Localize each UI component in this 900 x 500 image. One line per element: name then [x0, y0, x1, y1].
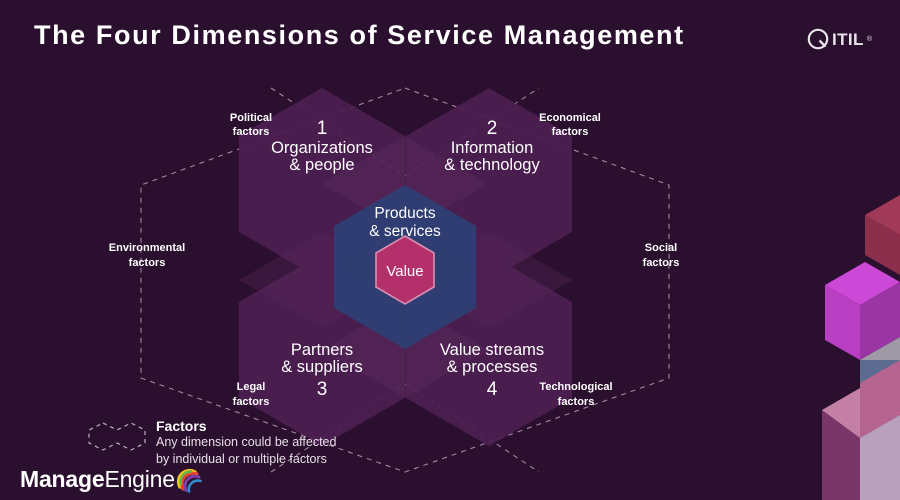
value-label: Value	[386, 263, 423, 280]
dimension-2-line1: Information	[451, 139, 534, 157]
dimension-2-number: 2	[487, 118, 498, 139]
legend-title: Factors	[156, 418, 336, 434]
dimension-3-line2: & suppliers	[281, 358, 363, 376]
legend: Factors Any dimension could be affected …	[88, 416, 336, 467]
factor-social-line2: factors	[643, 257, 680, 269]
manageengine-swirl-icon	[176, 467, 202, 493]
cube-crimson	[865, 195, 900, 275]
dimension-4-number: 4	[487, 379, 498, 400]
factor-technological-line1: Technological	[539, 381, 612, 393]
factor-technological-line2: factors	[558, 396, 595, 408]
factor-economical-line1: Economical	[539, 112, 601, 124]
factor-economical-line2: factors	[552, 126, 589, 138]
factor-political-line2: factors	[233, 126, 270, 138]
manageengine-brand-bold: Manage	[20, 466, 104, 493]
decorative-isometric-cubes	[810, 0, 900, 500]
dimension-2-line2: & technology	[444, 156, 540, 174]
dimension-4-line2: & processes	[447, 358, 538, 376]
legend-desc-line1: Any dimension could be affected	[156, 435, 336, 451]
core-label-line2: & services	[369, 223, 441, 240]
dimension-1-line1: Organizations	[271, 139, 373, 157]
dimension-3-number: 3	[317, 379, 328, 400]
factor-legal-line2: factors	[233, 396, 270, 408]
core-label-line1: Products	[374, 205, 435, 222]
manageengine-brand-light: Engine	[104, 466, 174, 493]
factors-dashed-hexagon-icon	[88, 416, 146, 456]
slide-canvas: The Four Dimensions of Service Managemen…	[0, 0, 900, 500]
dimension-3-line1: Partners	[291, 341, 353, 359]
factor-environmental-line2: factors	[129, 257, 166, 269]
dimension-4-line1: Value streams	[440, 341, 544, 359]
factor-legal-line1: Legal	[237, 381, 266, 393]
dimension-1-number: 1	[317, 118, 328, 139]
legend-desc-line2: by individual or multiple factors	[156, 452, 336, 468]
dimension-1-line2: & people	[289, 156, 354, 174]
legend-text-block: Factors Any dimension could be affected …	[156, 416, 336, 467]
factor-environmental-line1: Environmental	[109, 242, 185, 254]
factor-political-line1: Political	[230, 112, 272, 124]
manageengine-logo: Manage Engine	[20, 466, 202, 493]
factor-social-line1: Social	[645, 242, 677, 254]
